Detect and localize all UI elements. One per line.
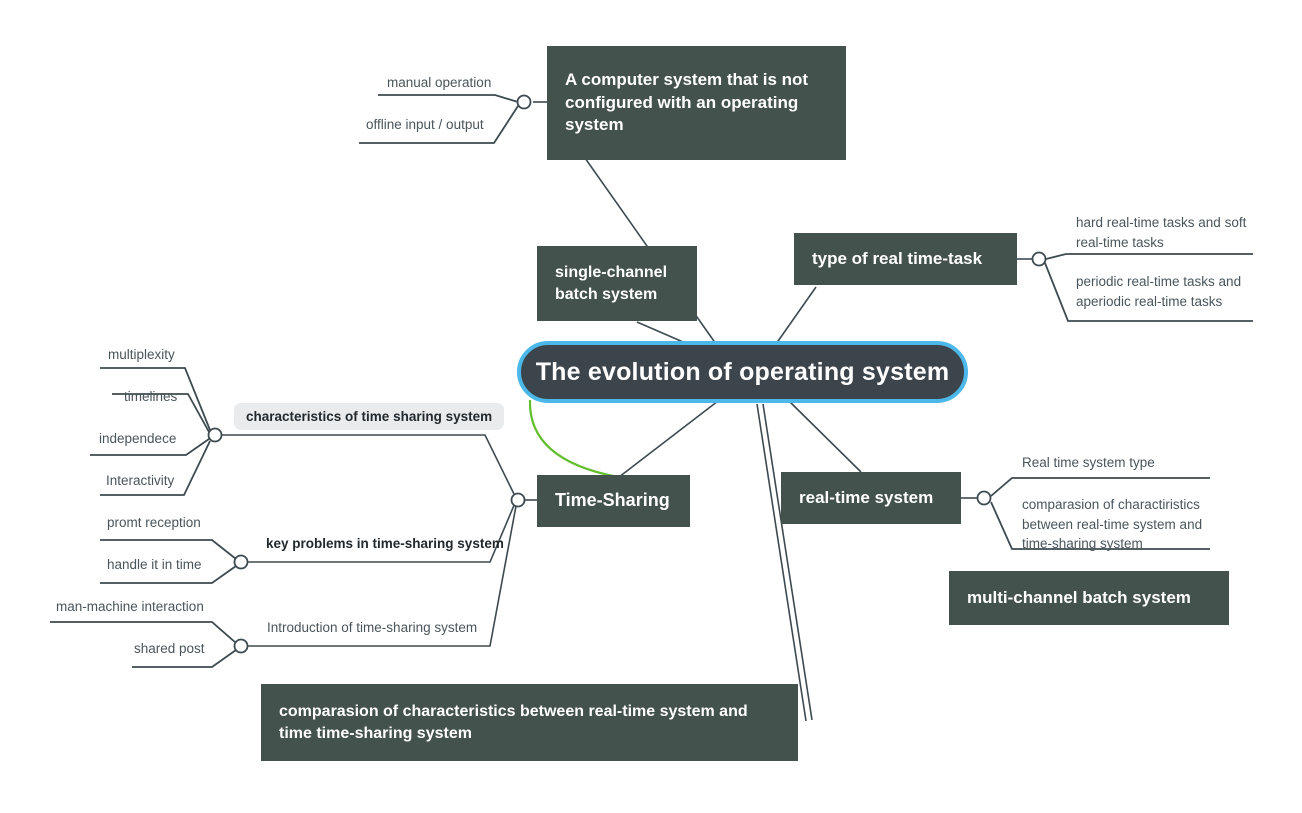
node-time-sharing-label: Time-Sharing (555, 489, 670, 513)
junction-real-time (978, 492, 991, 505)
junction-type-task (1033, 253, 1046, 266)
leaf-manual-operation[interactable]: manual operation (387, 73, 491, 93)
leaf-timelines-label: timelines (124, 389, 177, 404)
leaf-promt-reception[interactable]: promt reception (107, 513, 201, 533)
node-no-os-system[interactable]: A computer system that is not configured… (547, 46, 846, 160)
leaf-promt-reception-label: promt reception (107, 515, 201, 530)
leaf-man-machine-interaction[interactable]: man-machine interaction (56, 597, 204, 617)
leaf-multiplexity[interactable]: multiplexity (108, 345, 175, 365)
underline-real-time-type (991, 478, 1210, 496)
node-no-os-system-label: A computer system that is not configured… (565, 69, 828, 137)
leaf-shared-post-label: shared post (134, 641, 205, 656)
edge-root-to-type-real-time (776, 287, 816, 344)
leaf-independece[interactable]: independece (99, 429, 176, 449)
leaf-independece-label: independece (99, 431, 176, 446)
edge-root-to-real-time-system (790, 402, 861, 472)
leaf-offline-input-output[interactable]: offline input / output (366, 115, 484, 135)
node-type-real-time-task[interactable]: type of real time-task (794, 233, 1017, 285)
leaf-shared-post[interactable]: shared post (134, 639, 205, 659)
leaf-comparison-label: comparasion of charactiristics between r… (1022, 497, 1202, 551)
underline-hard-soft-tasks (1046, 254, 1253, 259)
node-multi-channel-batch-label: multi-channel batch system (967, 587, 1191, 610)
leaf-real-time-system-type[interactable]: Real time system type (1022, 453, 1222, 473)
leaf-hard-soft-real-time-tasks-label: hard real-time tasks and soft real-time … (1076, 215, 1246, 250)
node-comparison-box[interactable]: comparasion of characteristics between r… (261, 684, 798, 761)
junction-key-problems (235, 556, 248, 569)
junction-time-sharing (512, 494, 525, 507)
leaf-interactivity[interactable]: Interactivity (106, 471, 174, 491)
junction-characteristics (209, 429, 222, 442)
edge-ts-to-characteristics (222, 435, 514, 494)
leaf-periodic-aperiodic-tasks-label: periodic real-time tasks and aperiodic r… (1076, 274, 1241, 309)
node-time-sharing[interactable]: Time-Sharing (537, 475, 690, 527)
node-type-real-time-task-label: type of real time-task (812, 248, 982, 271)
leaf-periodic-aperiodic-tasks[interactable]: periodic real-time tasks and aperiodic r… (1076, 272, 1256, 311)
junction-no-os (518, 96, 531, 109)
edge-root-to-time-sharing-dark (619, 401, 718, 477)
leaf-handle-it-in-time[interactable]: handle it in time (107, 555, 202, 575)
edge-root-to-comparison-box (757, 404, 806, 721)
node-root[interactable]: The evolution of operating system (517, 341, 968, 403)
chip-characteristics-label: characteristics of time sharing system (246, 409, 492, 424)
leaf-man-machine-interaction-label: man-machine interaction (56, 599, 204, 614)
chip-key-problems-in-time-sharing-system[interactable]: key problems in time-sharing system (266, 534, 526, 554)
node-real-time-system[interactable]: real-time system (781, 472, 961, 524)
chip-introduction-label: Introduction of time-sharing system (267, 620, 477, 635)
junction-introduction (235, 640, 248, 653)
chip-introduction-of-time-sharing-system[interactable]: Introduction of time-sharing system (267, 618, 527, 638)
leaf-multiplexity-label: multiplexity (108, 347, 175, 362)
node-single-channel-batch-label: single-channel batch system (555, 262, 679, 305)
underline-manual-operation (378, 95, 518, 102)
leaf-hard-soft-real-time-tasks[interactable]: hard real-time tasks and soft real-time … (1076, 213, 1256, 252)
node-single-channel-batch[interactable]: single-channel batch system (537, 246, 697, 321)
node-root-label: The evolution of operating system (536, 358, 950, 387)
edge-root-to-time-sharing (530, 400, 618, 477)
leaf-manual-operation-label: manual operation (387, 75, 491, 90)
leaf-interactivity-label: Interactivity (106, 473, 174, 488)
leaf-handle-it-in-time-label: handle it in time (107, 557, 202, 572)
leaf-offline-input-output-label: offline input / output (366, 117, 484, 132)
chip-key-problems-label: key problems in time-sharing system (266, 536, 504, 551)
edge-root-to-multi-channel (763, 404, 812, 720)
leaf-real-time-system-type-label: Real time system type (1022, 455, 1155, 470)
node-real-time-system-label: real-time system (799, 487, 933, 510)
node-comparison-box-label: comparasion of characteristics between r… (279, 701, 780, 744)
chip-characteristics-of-time-sharing-system[interactable]: characteristics of time sharing system (234, 403, 504, 430)
leaf-comparison-real-time-vs-time-sharing[interactable]: comparasion of charactiristics between r… (1022, 495, 1212, 554)
leaf-timelines[interactable]: timelines (124, 387, 177, 407)
node-multi-channel-batch[interactable]: multi-channel batch system (949, 571, 1229, 625)
